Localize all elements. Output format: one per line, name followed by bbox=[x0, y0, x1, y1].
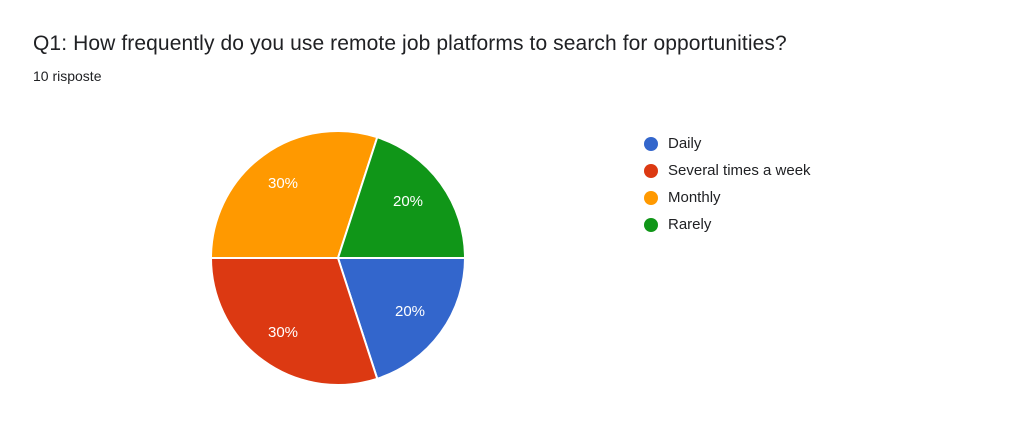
pie-slice-label: 20% bbox=[393, 193, 423, 210]
pie-chart: 20%30%30%20% bbox=[150, 100, 550, 420]
pie-slice-group bbox=[211, 131, 465, 385]
pie-slice-label: 30% bbox=[268, 175, 298, 192]
legend-item-rarely[interactable]: Rarely bbox=[644, 211, 974, 238]
chart-legend: DailySeveral times a weekMonthlyRarely bbox=[644, 130, 974, 238]
response-count-label: 10 risposte bbox=[33, 66, 101, 86]
legend-item-label: Several times a week bbox=[668, 162, 811, 180]
page-title: Q1: How frequently do you use remote job… bbox=[33, 30, 787, 58]
legend-item-label: Rarely bbox=[668, 216, 711, 234]
legend-swatch-icon bbox=[644, 164, 658, 178]
chart-area: 20%30%30%20% DailySeveral times a weekMo… bbox=[0, 100, 1024, 431]
legend-item-monthly[interactable]: Monthly bbox=[644, 184, 974, 211]
pie-slice-label: 30% bbox=[268, 324, 298, 341]
pie-slice-label: 20% bbox=[395, 303, 425, 320]
legend-item-several-times-a-week[interactable]: Several times a week bbox=[644, 157, 974, 184]
legend-item-label: Daily bbox=[668, 135, 701, 153]
legend-item-daily[interactable]: Daily bbox=[644, 130, 974, 157]
legend-swatch-icon bbox=[644, 191, 658, 205]
legend-swatch-icon bbox=[644, 218, 658, 232]
legend-item-label: Monthly bbox=[668, 189, 721, 207]
pie-chart-card: Q1: How frequently do you use remote job… bbox=[0, 0, 1024, 431]
legend-swatch-icon bbox=[644, 137, 658, 151]
